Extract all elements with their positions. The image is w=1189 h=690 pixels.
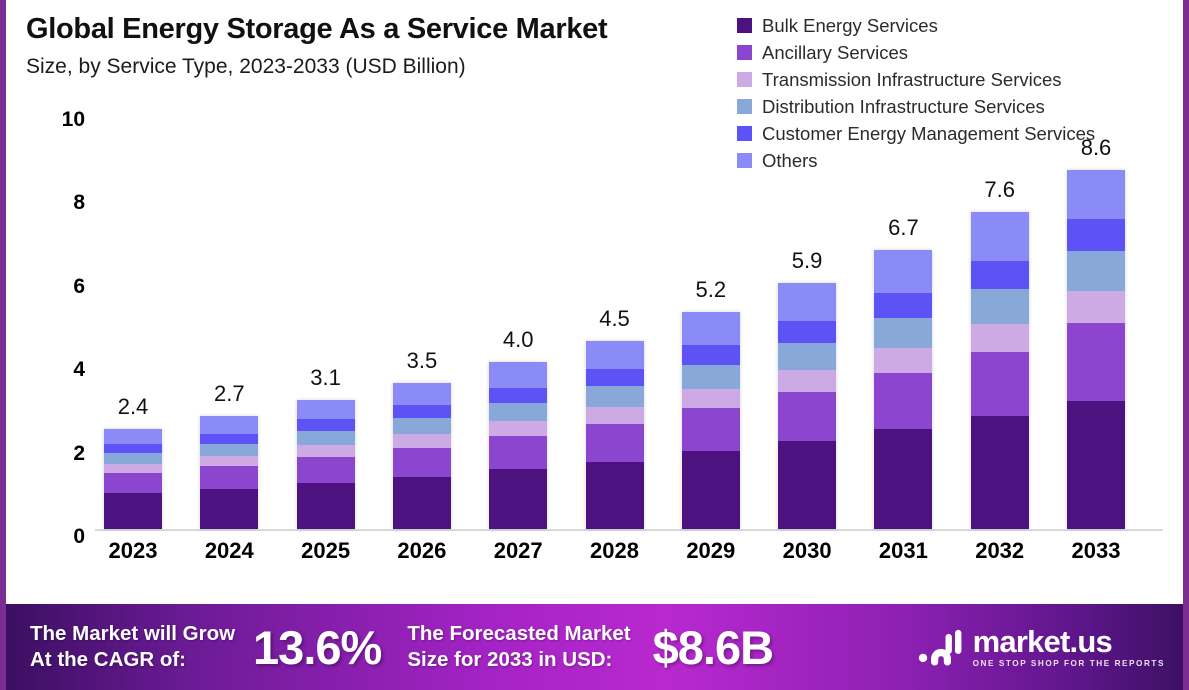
bar-segment[interactable] [971, 352, 1029, 415]
bar-segment[interactable] [104, 429, 162, 444]
bar-segment[interactable] [489, 388, 547, 403]
y-axis: 0246810 [33, 112, 95, 537]
bar-segment[interactable] [778, 343, 836, 370]
bar-stack[interactable] [682, 312, 740, 529]
bar-segment[interactable] [778, 321, 836, 343]
bar-stack[interactable] [104, 429, 162, 529]
bar-stack[interactable] [200, 416, 258, 529]
bar-segment[interactable] [682, 408, 740, 451]
bar-segment[interactable] [393, 477, 451, 529]
bar-segment[interactable] [971, 212, 1029, 260]
bar-segment[interactable] [489, 436, 547, 469]
bar-segment[interactable] [874, 293, 932, 318]
bar-segment[interactable] [874, 348, 932, 373]
plot-area: 0246810 2.42.73.13.54.04.55.25.96.77.68.… [33, 112, 1163, 537]
x-axis-tick-label: 2030 [764, 538, 850, 564]
bar-value-label: 3.5 [379, 348, 465, 374]
bar-segment[interactable] [200, 456, 258, 466]
bar-segment[interactable] [200, 466, 258, 489]
bar-segment[interactable] [971, 289, 1029, 324]
legend-swatch-icon [737, 72, 752, 87]
y-axis-tick-label: 0 [73, 525, 85, 549]
bar-segment[interactable] [1067, 251, 1125, 291]
forecast-block: The Forecasted MarketSize for 2033 in US… [381, 620, 773, 675]
chart-infographic: Global Energy Storage As a Service Marke… [0, 0, 1189, 690]
bar-segment[interactable] [1067, 170, 1125, 219]
cagr-caption: The Market will GrowAt the CAGR of: [30, 621, 235, 673]
x-axis-tick-label: 2028 [572, 538, 658, 564]
y-axis-tick-label: 4 [73, 358, 85, 382]
legend-swatch-icon [737, 18, 752, 33]
bar-segment[interactable] [682, 451, 740, 529]
x-axis-tick-label: 2033 [1053, 538, 1139, 564]
bar-segment[interactable] [489, 362, 547, 387]
x-axis-tick-label: 2023 [90, 538, 176, 564]
x-axis-tick-label: 2025 [283, 538, 369, 564]
bar-value-label: 4.0 [475, 327, 561, 353]
market-us-logo[interactable]: market.us ONE STOP SHOP FOR THE REPORTS [918, 626, 1165, 668]
bar-segment[interactable] [104, 453, 162, 464]
bar-segment[interactable] [586, 407, 644, 424]
y-axis-tick-label: 10 [62, 108, 85, 132]
x-axis: 2023202420252026202720282029203020312032… [95, 538, 1177, 574]
bar-segment[interactable] [1067, 219, 1125, 251]
bar-segment[interactable] [586, 386, 644, 407]
bar-segment[interactable] [682, 365, 740, 389]
logo-tagline: ONE STOP SHOP FOR THE REPORTS [973, 660, 1165, 668]
bar-stack[interactable] [393, 383, 451, 529]
x-axis-tick-label: 2032 [957, 538, 1043, 564]
bar-segment[interactable] [586, 341, 644, 369]
bar-segment[interactable] [489, 421, 547, 436]
logo-name: market.us [973, 626, 1165, 657]
bar-stack[interactable] [297, 400, 355, 529]
bar-chart-logo-icon [918, 628, 964, 666]
axis-baseline [95, 529, 1163, 531]
y-axis-tick-label: 6 [73, 275, 85, 299]
x-axis-tick-label: 2029 [668, 538, 754, 564]
bar-stack[interactable] [586, 341, 644, 529]
chart-header: Global Energy Storage As a Service Marke… [26, 14, 766, 79]
bar-value-label: 2.7 [186, 381, 272, 407]
bar-segment[interactable] [297, 483, 355, 529]
page-title: Global Energy Storage As a Service Marke… [26, 14, 766, 44]
bar-segment[interactable] [393, 418, 451, 434]
legend-item-label: Bulk Energy Services [762, 15, 938, 37]
bar-series-container: 2.42.73.13.54.04.55.25.96.77.68.6 [95, 112, 1163, 529]
bar-segment[interactable] [393, 434, 451, 447]
bar-segment[interactable] [297, 400, 355, 420]
legend-item[interactable]: Ancillary Services [737, 39, 1189, 66]
bar-segment[interactable] [1067, 323, 1125, 401]
bar-segment[interactable] [586, 424, 644, 462]
x-axis-tick-label: 2031 [860, 538, 946, 564]
y-axis-tick-label: 8 [73, 191, 85, 215]
cagr-block: The Market will GrowAt the CAGR of: 13.6… [6, 620, 381, 675]
legend-item-label: Transmission Infrastructure Services [762, 69, 1062, 91]
bar-value-label: 5.9 [764, 248, 850, 274]
bar-segment[interactable] [1067, 401, 1125, 529]
y-axis-tick-label: 2 [73, 442, 85, 466]
bar-segment[interactable] [586, 462, 644, 529]
legend-item[interactable]: Transmission Infrastructure Services [737, 66, 1189, 93]
bar-value-label: 7.6 [957, 177, 1043, 203]
bar-segment[interactable] [586, 369, 644, 386]
bar-segment[interactable] [297, 419, 355, 431]
forecast-value: $8.6B [653, 620, 773, 675]
x-axis-tick-label: 2027 [475, 538, 561, 564]
bar-stack[interactable] [489, 362, 547, 529]
bar-segment[interactable] [874, 429, 932, 529]
bar-segment[interactable] [489, 403, 547, 421]
x-axis-tick-label: 2026 [379, 538, 465, 564]
bar-segment[interactable] [682, 389, 740, 409]
bar-stack[interactable] [874, 250, 932, 529]
bar-segment[interactable] [200, 444, 258, 457]
bar-segment[interactable] [104, 473, 162, 493]
bar-segment[interactable] [874, 318, 932, 349]
bar-stack[interactable] [1067, 170, 1125, 529]
bar-stack[interactable] [778, 283, 836, 529]
bar-segment[interactable] [297, 457, 355, 483]
bar-segment[interactable] [778, 283, 836, 321]
bar-segment[interactable] [682, 345, 740, 365]
bar-segment[interactable] [297, 431, 355, 445]
bar-segment[interactable] [874, 250, 932, 293]
plot-panel: 2.42.73.13.54.04.55.25.96.77.68.6 [95, 112, 1163, 537]
legend-item-label: Ancillary Services [762, 42, 908, 64]
bar-segment[interactable] [489, 469, 547, 529]
bar-value-label: 2.4 [90, 394, 176, 420]
bar-segment[interactable] [393, 405, 451, 418]
bar-segment[interactable] [778, 392, 836, 441]
x-axis-tick-label: 2024 [186, 538, 272, 564]
bar-segment[interactable] [971, 261, 1029, 289]
bar-segment[interactable] [971, 416, 1029, 529]
bar-value-label: 8.6 [1053, 135, 1139, 161]
cagr-value: 13.6% [253, 620, 381, 675]
bar-segment[interactable] [104, 444, 162, 453]
bar-segment[interactable] [200, 489, 258, 529]
forecast-caption: The Forecasted MarketSize for 2033 in US… [407, 621, 630, 673]
bar-stack[interactable] [971, 212, 1029, 529]
bar-segment[interactable] [200, 434, 258, 444]
bar-segment[interactable] [200, 416, 258, 433]
bar-segment[interactable] [104, 464, 162, 473]
logo-text: market.us ONE STOP SHOP FOR THE REPORTS [973, 626, 1165, 668]
bar-segment[interactable] [874, 373, 932, 429]
bar-segment[interactable] [778, 370, 836, 392]
chart-subtitle: Size, by Service Type, 2023-2033 (USD Bi… [26, 55, 766, 79]
bar-segment[interactable] [1067, 291, 1125, 323]
bar-value-label: 5.2 [668, 277, 754, 303]
bar-segment[interactable] [682, 312, 740, 345]
bar-segment[interactable] [104, 493, 162, 529]
bar-value-label: 6.7 [860, 215, 946, 241]
footer-banner: The Market will GrowAt the CAGR of: 13.6… [6, 604, 1183, 690]
bar-segment[interactable] [971, 324, 1029, 352]
bar-segment[interactable] [297, 445, 355, 457]
bar-segment[interactable] [393, 383, 451, 405]
bar-value-label: 3.1 [283, 365, 369, 391]
legend-item[interactable]: Bulk Energy Services [737, 12, 1189, 39]
bar-value-label: 4.5 [572, 306, 658, 332]
bar-segment[interactable] [393, 448, 451, 477]
legend-swatch-icon [737, 45, 752, 60]
bar-segment[interactable] [778, 441, 836, 529]
